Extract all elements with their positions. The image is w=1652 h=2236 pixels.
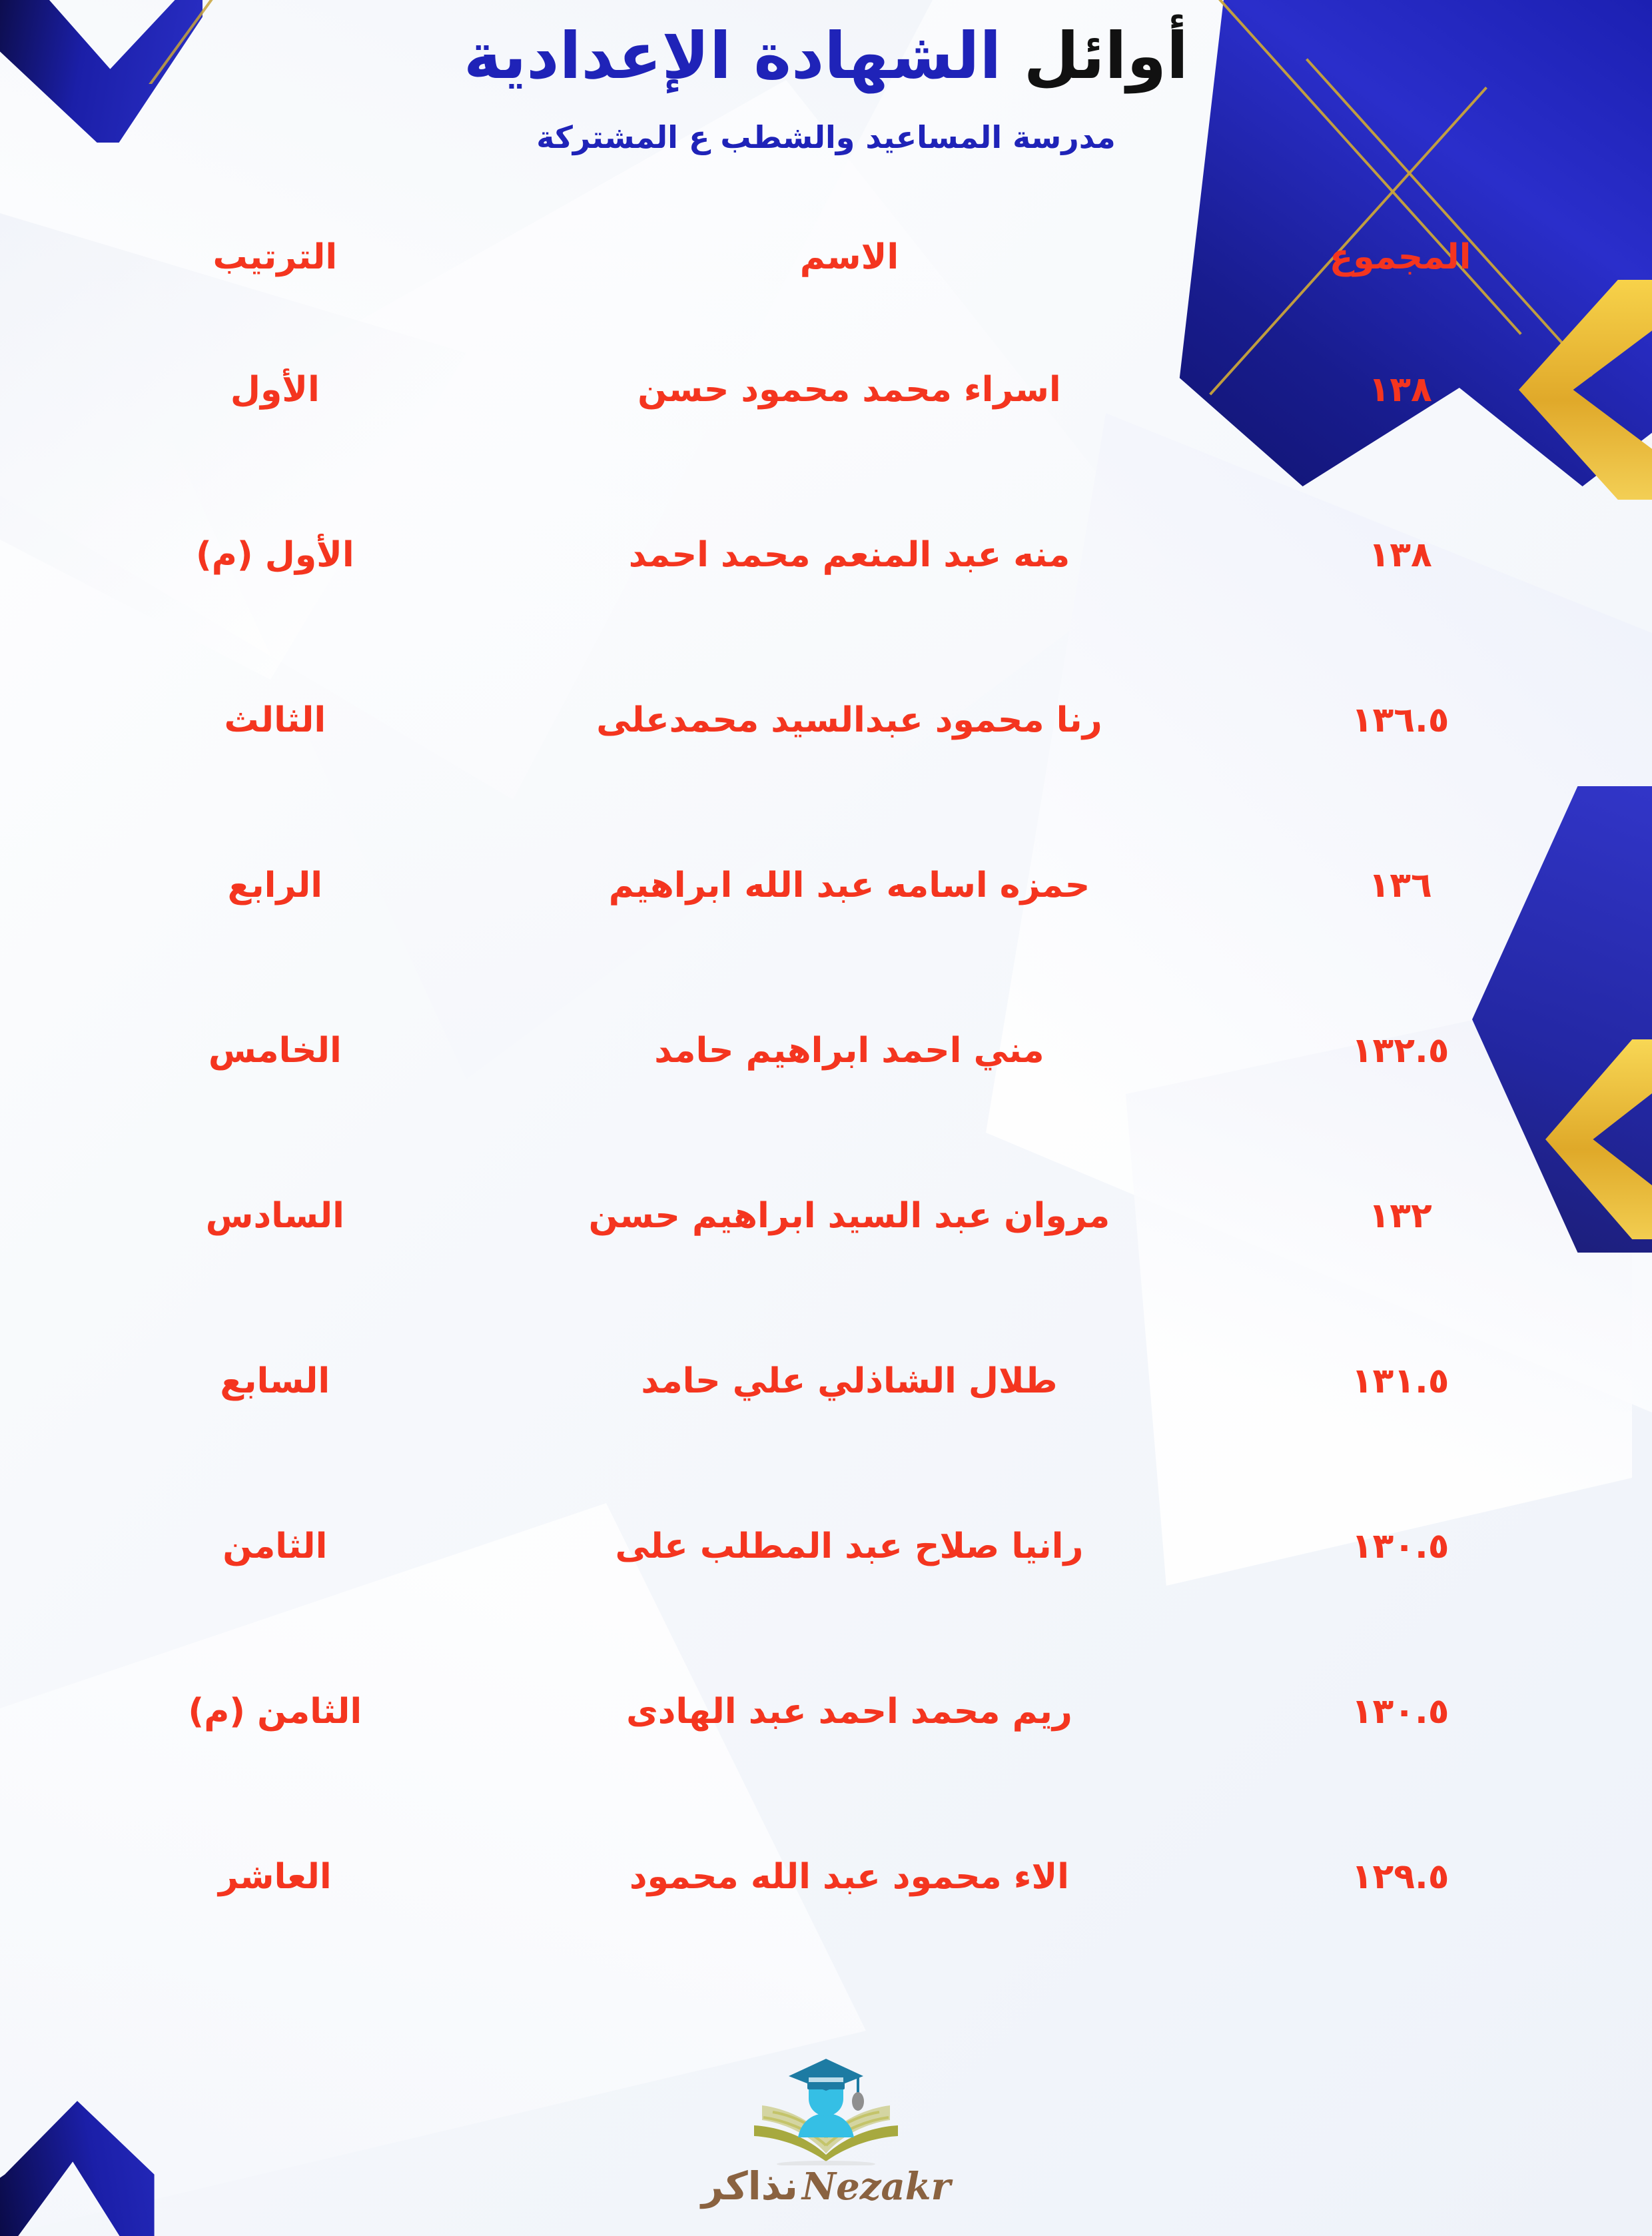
cell-name: رانيا صلاح عبد المطلب على [500,1464,1199,1629]
table-row: ١٣٢.٥مني احمد ابراهيم حامدالخامس [50,968,1602,1133]
column-header-total: المجموع [1198,207,1602,307]
page-header: أوائل الشهادة الإعدادية مدرسة المساعيد و… [0,0,1652,158]
cell-rank: الأول (م) [50,472,500,638]
cell-total: ١٣٢.٥ [1198,968,1602,1133]
cell-total: ١٢٩.٥ [1198,1794,1602,1959]
cell-total: ١٣٢ [1198,1133,1602,1299]
table-row: ١٣٨منه عبد المنعم محمد احمدالأول (م) [50,472,1602,638]
cell-rank: الثالث [50,638,500,803]
cell-total: ١٣٦.٥ [1198,638,1602,803]
logo-arabic-text: نذاكر [701,2167,798,2205]
table-row: ١٣٠.٥رانيا صلاح عبد المطلب علىالثامن [50,1464,1602,1629]
cell-total: ١٣٠.٥ [1198,1629,1602,1794]
logo-wordmark: Nezakr نذاكر [701,2167,951,2205]
logo-latin-text: Nezakr [802,2168,951,2205]
table-body: ١٣٨اسراء محمد محمود حسنالأول١٣٨منه عبد ا… [50,307,1602,1959]
table-row: ١٣٦حمزه اسامه عبد الله ابراهيمالرابع [50,803,1602,968]
column-header-rank: الترتيب [50,207,500,307]
graduate-book-logo-icon [726,2053,926,2165]
table-header-row: المجموع الاسم الترتيب [50,207,1602,307]
cell-rank: الثامن (م) [50,1629,500,1794]
table-row: ١٢٩.٥الاء محمود عبد الله محمودالعاشر [50,1794,1602,1959]
page-title: أوائل الشهادة الإعدادية [0,19,1652,94]
cell-total: ١٣١.٥ [1198,1299,1602,1464]
column-header-name: الاسم [500,207,1199,307]
cell-name: حمزه اسامه عبد الله ابراهيم [500,803,1199,968]
table-row: ١٣٠.٥ريم محمد احمد عبد الهادىالثامن (م) [50,1629,1602,1794]
cell-total: ١٣٨ [1198,307,1602,472]
table-header: المجموع الاسم الترتيب [50,207,1602,307]
page-title-lead: أوائل [1024,19,1188,93]
cell-rank: الخامس [50,968,500,1133]
table-row: ١٣٢مروان عبد السيد ابراهيم حسنالسادس [50,1133,1602,1299]
cell-total: ١٣٠.٥ [1198,1464,1602,1629]
table-row: ١٣٦.٥رنا محمود عبدالسيد محمدعلىالثالث [50,638,1602,803]
ranking-table: المجموع الاسم الترتيب ١٣٨اسراء محمد محمو… [50,207,1602,1959]
cell-rank: الثامن [50,1464,500,1629]
cell-name: منه عبد المنعم محمد احمد [500,472,1199,638]
cell-name: رنا محمود عبدالسيد محمدعلى [500,638,1199,803]
cell-total: ١٣٨ [1198,472,1602,638]
footer-branding: Nezakr نذاكر [0,2053,1652,2205]
school-subtitle: مدرسة المساعيد والشطب ع المشتركة [0,118,1652,158]
cell-total: ١٣٦ [1198,803,1602,968]
cell-rank: الأول [50,307,500,472]
table-row: ١٣٨اسراء محمد محمود حسنالأول [50,307,1602,472]
certificate-page: أوائل الشهادة الإعدادية مدرسة المساعيد و… [0,0,1652,2236]
page-title-rest: الشهادة الإعدادية [464,19,1001,93]
cell-name: مروان عبد السيد ابراهيم حسن [500,1133,1199,1299]
cell-rank: السادس [50,1133,500,1299]
cell-rank: السابع [50,1299,500,1464]
cell-name: الاء محمود عبد الله محمود [500,1794,1199,1959]
table-row: ١٣١.٥طلال الشاذلي علي حامدالسابع [50,1299,1602,1464]
cell-name: طلال الشاذلي علي حامد [500,1299,1199,1464]
ranking-sheet: المجموع الاسم الترتيب ١٣٨اسراء محمد محمو… [50,207,1602,1959]
cell-rank: الرابع [50,803,500,968]
cell-name: ريم محمد احمد عبد الهادى [500,1629,1199,1794]
cell-rank: العاشر [50,1794,500,1959]
cell-name: اسراء محمد محمود حسن [500,307,1199,472]
cell-name: مني احمد ابراهيم حامد [500,968,1199,1133]
